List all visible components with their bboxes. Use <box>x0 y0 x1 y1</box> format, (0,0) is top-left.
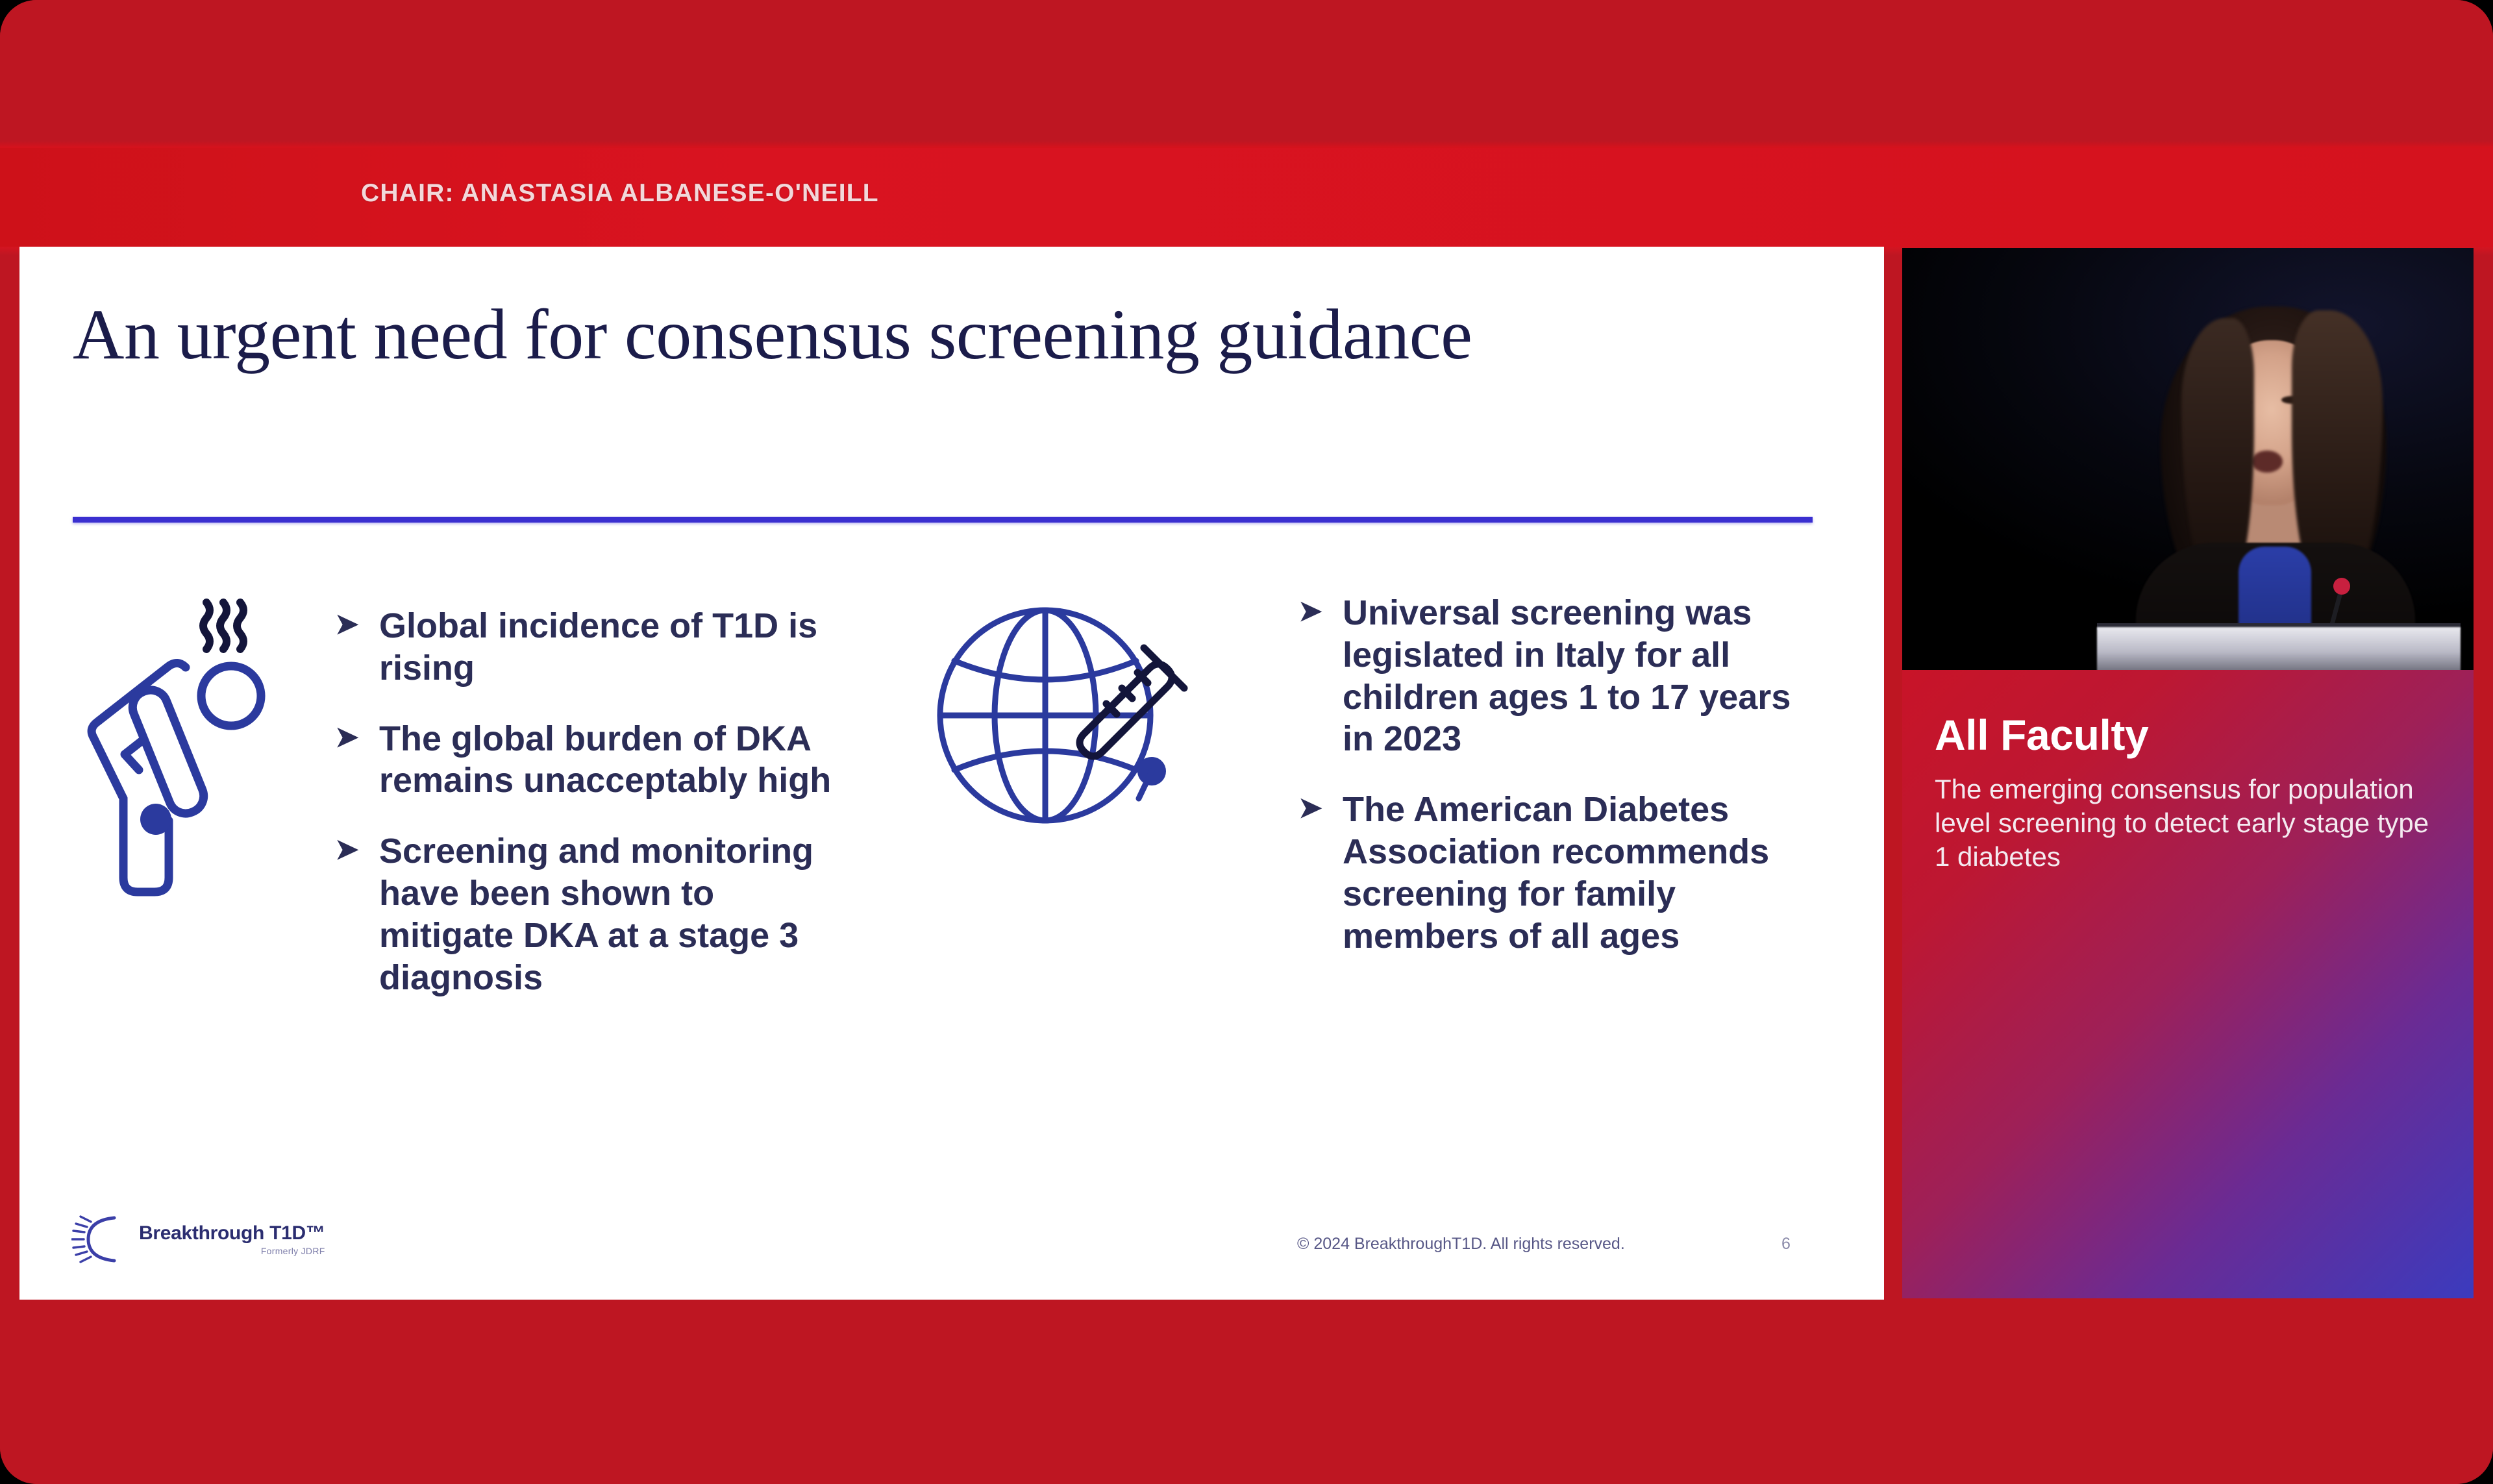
right-bullet-column: ➤ Universal screening was legislated in … <box>1296 592 1822 957</box>
title-divider-rule <box>73 517 1813 523</box>
slide-title: An urgent need for consensus screening g… <box>73 293 1472 376</box>
bullet-arrow-icon: ➤ <box>1298 595 1322 629</box>
session-title: All Faculty <box>1935 710 2442 760</box>
broadcast-stage: CHAIR: ANASTASIA ALBANESE-O'NEILL An urg… <box>0 0 2493 1484</box>
bullet-item: ➤ Universal screening was legislated in … <box>1296 592 1822 760</box>
bullet-text: The global burden of DKA remains unaccep… <box>379 719 831 800</box>
ketones-breath-icon <box>83 584 304 909</box>
bullet-item: ➤ The American Diabetes Association reco… <box>1296 789 1822 957</box>
bullet-arrow-icon: ➤ <box>335 721 359 755</box>
bullet-text: Universal screening was legislated in It… <box>1343 593 1791 758</box>
slide-page-number: 6 <box>1781 1235 1791 1254</box>
bullet-text: Global incidence of T1D is rising <box>379 606 817 687</box>
bullet-text: Screening and monitoring have been shown… <box>379 832 813 996</box>
podium <box>2097 627 2461 670</box>
speaker-figure <box>2144 284 2403 648</box>
session-description: The emerging consensus for population le… <box>1935 773 2442 874</box>
speaker-video-feed[interactable] <box>1902 248 2474 670</box>
globe-test-tube-icon <box>930 592 1202 839</box>
chair-label: CHAIR: ANASTASIA ALBANESE-O'NEILL <box>361 179 879 208</box>
bullet-item: ➤ Screening and monitoring have been sho… <box>332 830 845 998</box>
presentation-slide: An urgent need for consensus screening g… <box>19 247 1884 1300</box>
bullet-text: The American Diabetes Association recomm… <box>1343 790 1769 955</box>
microphone-icon <box>2333 578 2350 595</box>
logo-name-text: Breakthrough T1D™ <box>139 1222 325 1244</box>
session-info-panel: All Faculty The emerging consensus for p… <box>1902 670 2474 1298</box>
left-bullet-list: ➤ Global incidence of T1D is rising ➤ Th… <box>332 605 845 998</box>
bullet-arrow-icon: ➤ <box>1298 791 1322 826</box>
bullet-item: ➤ Global incidence of T1D is rising <box>332 605 845 689</box>
bullet-arrow-icon: ➤ <box>335 833 359 867</box>
copyright-text: © 2024 BreakthroughT1D. All rights reser… <box>1297 1235 1625 1254</box>
right-bullet-list: ➤ Universal screening was legislated in … <box>1296 592 1822 957</box>
sunburst-logo-icon <box>71 1210 130 1268</box>
left-bullet-column: ➤ Global incidence of T1D is rising ➤ Th… <box>332 605 845 998</box>
logo-wordmark: Breakthrough T1D™ Formerly JDRF <box>139 1222 325 1256</box>
bullet-arrow-icon: ➤ <box>335 608 359 642</box>
breakthrough-t1d-logo: Breakthrough T1D™ Formerly JDRF <box>71 1201 331 1278</box>
logo-tagline-text: Formerly JDRF <box>261 1246 325 1256</box>
bullet-item: ➤ The global burden of DKA remains unacc… <box>332 718 845 802</box>
speaker-mouth <box>2251 451 2283 473</box>
